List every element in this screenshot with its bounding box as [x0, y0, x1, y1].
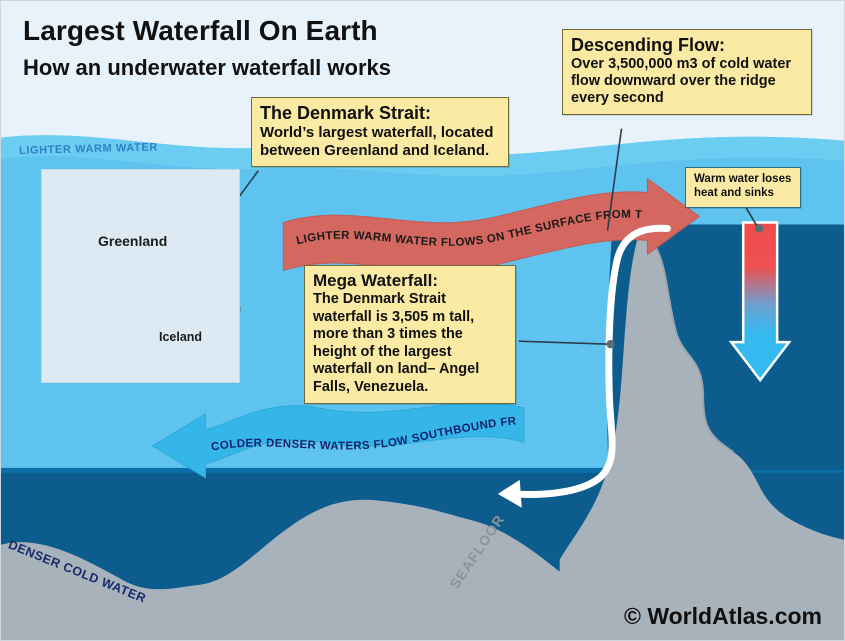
callout-warm-water-sinks: Warm water loses heat and sinks — [685, 167, 801, 208]
page-subtitle: How an underwater waterfall works — [23, 55, 391, 81]
callout-mega-waterfall-body: The Denmark Strait waterfall is 3,505 m … — [313, 291, 507, 396]
map-label-iceland: Iceland — [159, 330, 202, 344]
callout-warm-water-sinks-body: Warm water loses heat and sinks — [694, 173, 792, 200]
infographic-canvas: LIGHTER WARM WATER FLOWS ON THE SURFACE … — [0, 0, 845, 641]
dot-warm — [755, 224, 763, 232]
callout-denmark-strait-body: World’s largest waterfall, located betwe… — [260, 124, 500, 159]
callout-descending-flow-title: Descending Flow: — [571, 35, 803, 56]
callout-mega-waterfall: Mega Waterfall: The Denmark Strait water… — [304, 265, 516, 404]
callout-descending-flow-body: Over 3,500,000 m3 of cold water flow dow… — [571, 56, 803, 107]
dot-mega — [606, 340, 614, 348]
page-title: Largest Waterfall On Earth — [23, 15, 378, 47]
callout-mega-waterfall-title: Mega Waterfall: — [313, 271, 507, 291]
callout-denmark-strait-title: The Denmark Strait: — [260, 103, 500, 124]
worldatlas-credit: © WorldAtlas.com — [624, 603, 822, 630]
callout-descending-flow: Descending Flow: Over 3,500,000 m3 of co… — [562, 29, 812, 115]
callout-denmark-strait: The Denmark Strait: World’s largest wate… — [251, 97, 509, 167]
inset-map-greenland-iceland: Greenland Iceland — [41, 169, 240, 383]
map-label-greenland: Greenland — [98, 233, 167, 249]
